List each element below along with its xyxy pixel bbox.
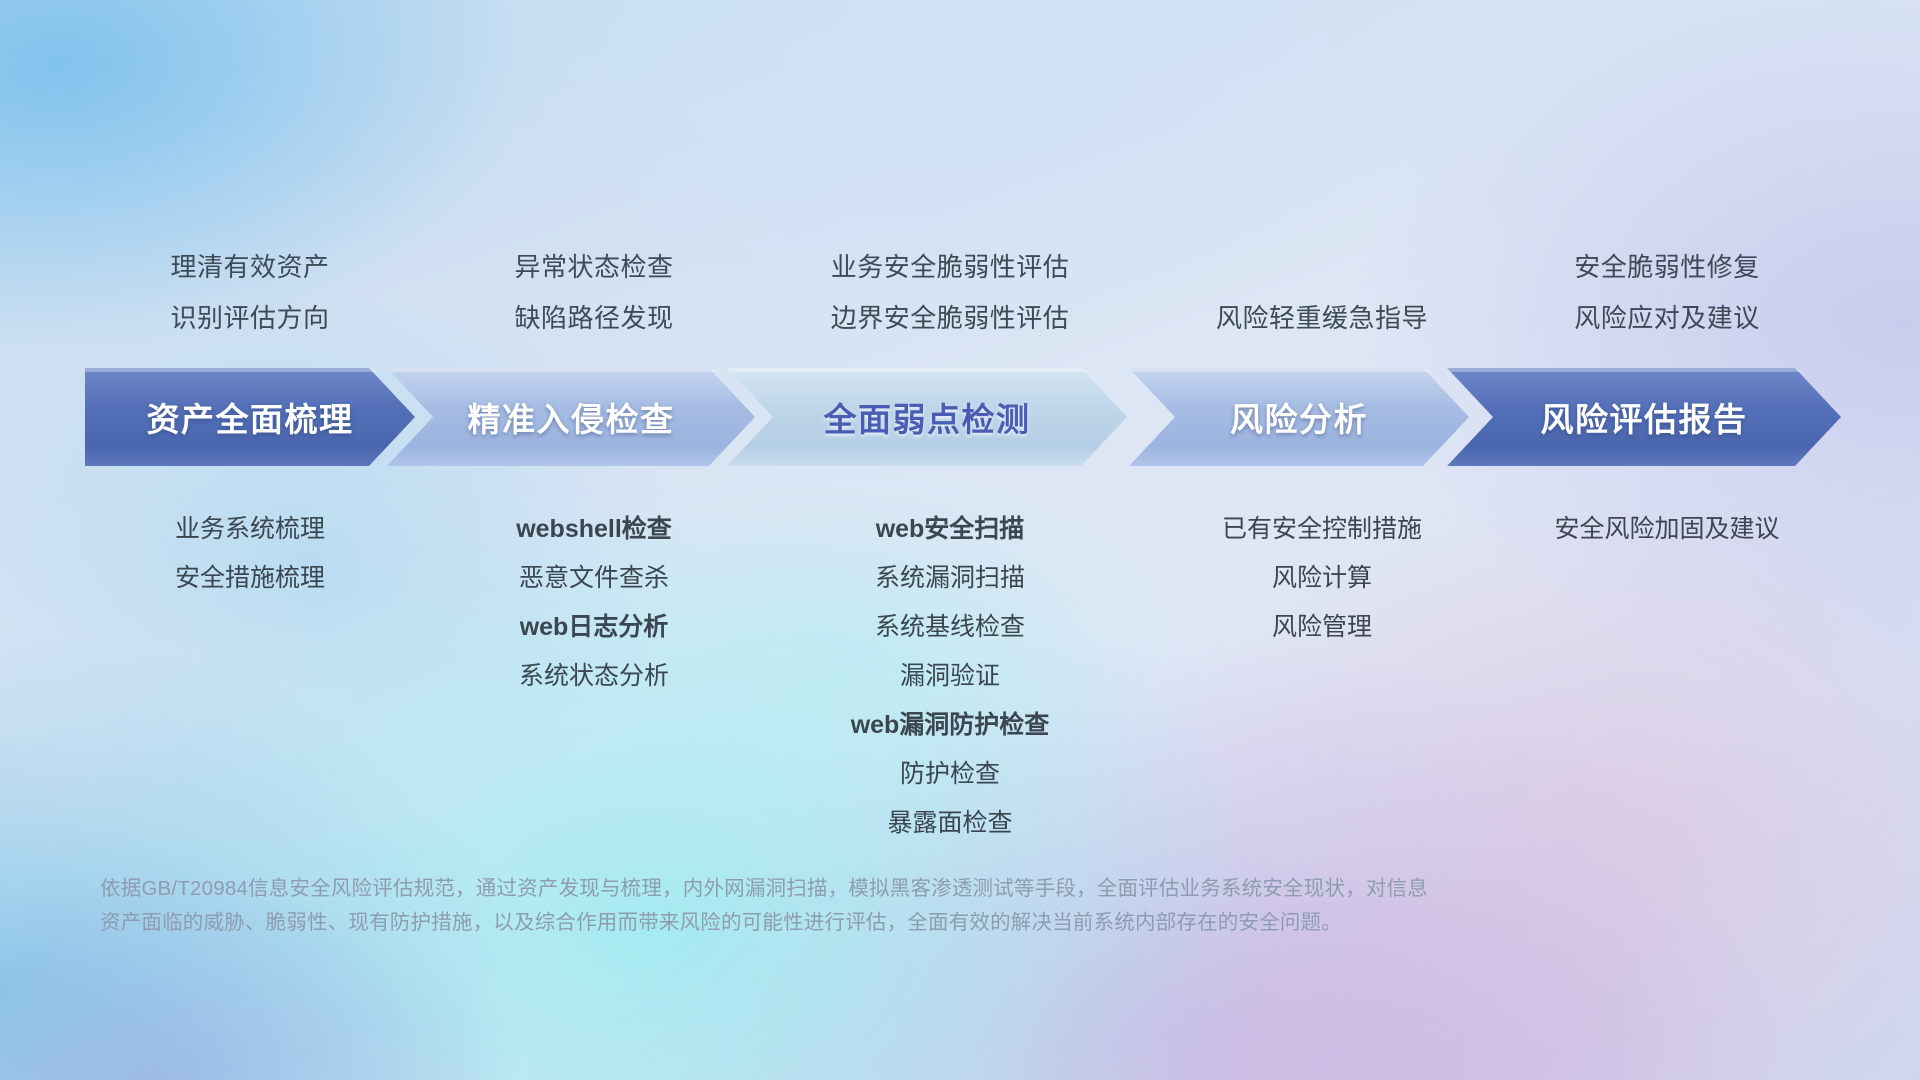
footer-line-2: 资产面临的威胁、脆弱性、现有防护措施，以及综合作用而带来风险的可能性进行评估，全…	[100, 906, 1800, 940]
footer-description: 依据GB/T20984信息安全风险评估规范，通过资产发现与梳理，内外网漏洞扫描，…	[100, 872, 1800, 940]
stage-top-labels-row: 理清有效资产识别评估方向异常状态检查缺陷路径发现业务安全脆弱性评估边界安全脆弱性…	[85, 228, 1915, 348]
bottom-labels-risk-report: 安全风险加固及建议	[1407, 505, 1920, 554]
bottom-label-item: 防护检查	[690, 750, 1210, 799]
bottom-label-item: 安全风险加固及建议	[1407, 505, 1920, 554]
chevron-stage-risk-report[interactable]: 风险评估报告	[1447, 368, 1841, 466]
top-labels-risk-report: 安全脆弱性修复风险应对及建议	[1407, 242, 1920, 344]
chevron-label-risk-analysis: 风险分析	[1230, 393, 1368, 441]
chevron-stage-risk-analysis[interactable]: 风险分析	[1129, 368, 1469, 466]
bottom-label-item: 漏洞验证	[690, 652, 1210, 701]
chevron-stage-asset-inventory[interactable]: 资产全面梳理	[85, 368, 415, 466]
top-label-item: 业务安全脆弱性评估	[690, 242, 1210, 293]
footer-line-1: 依据GB/T20984信息安全风险评估规范，通过资产发现与梳理，内外网漏洞扫描，…	[100, 872, 1800, 906]
bottom-label-item: 风险计算	[1062, 554, 1582, 603]
chevron-stage-intrusion-check[interactable]: 精准入侵检查	[387, 368, 755, 466]
process-diagram: 理清有效资产识别评估方向异常状态检查缺陷路径发现业务安全脆弱性评估边界安全脆弱性…	[0, 0, 1920, 1080]
chevron-stage-weakness-detection[interactable]: 全面弱点检测	[727, 368, 1127, 466]
chevron-label-intrusion-check: 精准入侵检查	[468, 393, 675, 441]
top-label-item: 安全脆弱性修复	[1407, 242, 1920, 293]
bottom-label-item: 风险管理	[1062, 603, 1582, 652]
top-label-item: 风险应对及建议	[1407, 293, 1920, 344]
bottom-label-item: 暴露面检查	[690, 799, 1210, 848]
chevron-label-weakness-detection: 全面弱点检测	[824, 393, 1031, 441]
chevron-label-asset-inventory: 资产全面梳理	[147, 393, 354, 441]
chevron-label-risk-report: 风险评估报告	[1541, 393, 1748, 441]
chevron-stage-band: 资产全面梳理精准入侵检查全面弱点检测风险分析风险评估报告	[85, 368, 1917, 466]
bottom-label-item: web漏洞防护检查	[690, 701, 1210, 750]
